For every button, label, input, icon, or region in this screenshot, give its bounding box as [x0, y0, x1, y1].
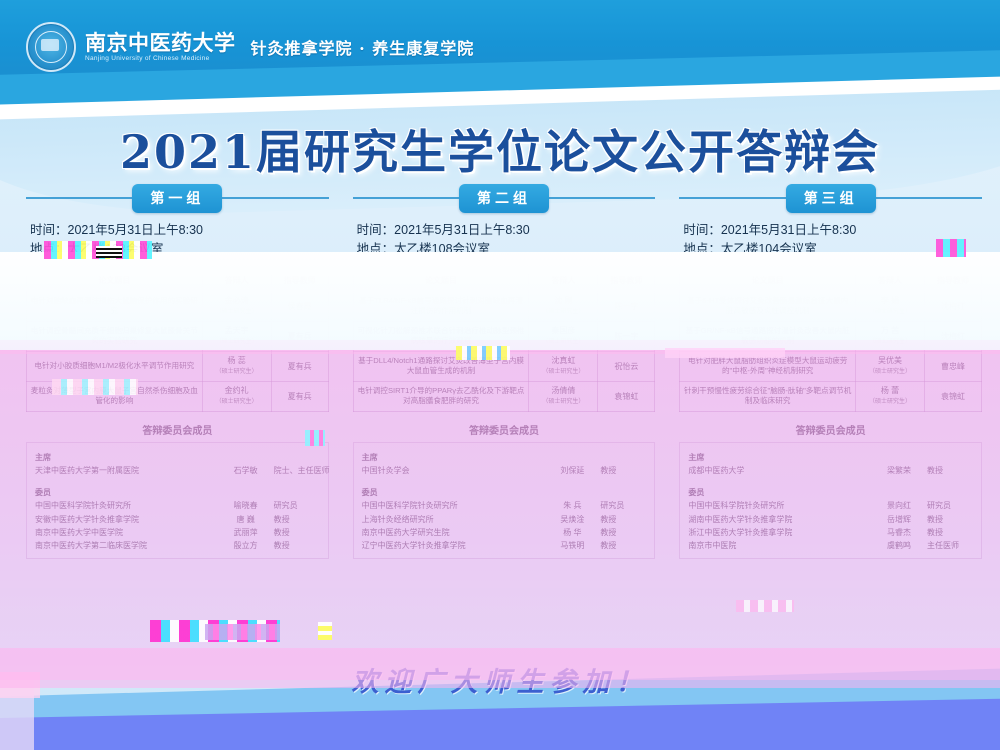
member-name: 喻晓春	[218, 499, 274, 512]
divider-right	[222, 197, 328, 199]
cell-student: 杨 蕾（硕士研究生）	[856, 381, 925, 411]
member-rank: 教授	[600, 513, 646, 526]
cell-advisor: 夏有兵	[271, 351, 328, 381]
glitch-artifact	[205, 624, 280, 640]
brand-logo-bar: 南京中医药大学 Nanjing University of Chinese Me…	[26, 22, 474, 72]
member-rank: 教授	[927, 513, 973, 526]
member-rank: 研究员	[600, 499, 646, 512]
committee-box: 主席 成都中医药大学 梁繁荣 教授 委员 中国中医科学院针灸研究所 景向红 研究…	[679, 442, 982, 559]
university-name-cn: 南京中医药大学	[85, 32, 236, 53]
group-header-3: 第三组	[679, 185, 982, 211]
member-rank: 教授	[600, 526, 646, 539]
member-name: 吴焕淦	[544, 513, 600, 526]
member-rank: 教授	[927, 526, 973, 539]
committee-row: 中国中医科学院针灸研究所 朱 兵 研究员	[362, 499, 647, 512]
committee-row: 安徽中医药大学针灸推拿学院 唐 巍 教授	[35, 513, 320, 526]
divider-right	[876, 197, 982, 199]
chair-label: 主席	[688, 451, 973, 464]
member-name: 马铁明	[544, 539, 600, 552]
member-org: 中国针灸学会	[362, 464, 545, 477]
divider-right	[549, 197, 655, 199]
university-name: 南京中医药大学 Nanjing University of Chinese Me…	[85, 32, 236, 63]
member-org: 辽宁中医药大学针灸推拿学院	[362, 539, 545, 552]
cell-student: 汤倩倩（硕士研究生）	[529, 381, 598, 411]
committee-title: 答辩委员会成员	[679, 418, 982, 442]
member-org: 南京中医药大学中医学院	[35, 526, 218, 539]
glitch-artifact	[52, 379, 138, 395]
poster-canvas: 南京中医药大学 Nanjing University of Chinese Me…	[0, 0, 1000, 750]
table-row: 电针调控SIRT1介导的PPARγ去乙酰化及下游靶点对高脂膳食肥胖的研究 汤倩倩…	[353, 381, 655, 411]
member-name: 唐 巍	[218, 513, 274, 526]
member-org: 中国中医科学院针灸研究所	[362, 499, 545, 512]
group-badge-2: 第二组	[459, 184, 549, 213]
member-org: 浙江中医药大学针灸推拿学院	[688, 526, 871, 539]
cell-title: 电针调控SIRT1介导的PPARγ去乙酰化及下游靶点对高脂膳食肥胖的研究	[353, 381, 529, 411]
committee-row: 南京市中医院 虞鹤鸣 主任医师	[688, 539, 973, 552]
member-rank: 主任医师	[927, 539, 973, 552]
glitch-artifact	[456, 346, 510, 360]
committee-row: 成都中医药大学 梁繁荣 教授	[688, 464, 973, 477]
committee-2: 答辩委员会成员 主席 中国针灸学会 刘保延 教授 委员 中国中医科学院针灸研究所…	[353, 418, 656, 559]
group-time-1: 时间：2021年5月31日上午8:30	[30, 221, 329, 240]
committee-box: 主席 中国针灸学会 刘保延 教授 委员 中国中医科学院针灸研究所 朱 兵 研究员	[353, 442, 656, 559]
committee-row: 浙江中医药大学针灸推拿学院 马睿杰 教授	[688, 526, 973, 539]
member-rank: 教授	[274, 526, 320, 539]
group-header-1: 第一组	[26, 185, 329, 211]
cell-title: 电针对小胶质细胞M1/M2极化水平调节作用研究	[27, 351, 203, 381]
member-name: 景向红	[871, 499, 927, 512]
university-name-en: Nanjing University of Chinese Medicine	[85, 56, 236, 63]
committee-row: 湖南中医药大学针灸推拿学院 岳增辉 教授	[688, 513, 973, 526]
committee-row: 天津中医药大学第一附属医院 石学敏 院士、主任医师	[35, 464, 320, 477]
committee-row: 上海针灸经络研究所 吴焕淦 教授	[362, 513, 647, 526]
member-name: 岳增辉	[871, 513, 927, 526]
render-overlay-pink-bottom	[0, 648, 1000, 688]
divider-left	[26, 197, 132, 199]
member-rank: 教授	[274, 513, 320, 526]
committee-row: 中国针灸学会 刘保延 教授	[362, 464, 647, 477]
committee-row: 南京中医药大学中医学院 武丽萍 教授	[35, 526, 320, 539]
group-time-3: 时间：2021年5月31日上午8:30	[683, 221, 982, 240]
committee-row: 辽宁中医药大学针灸推拿学院 马铁明 教授	[362, 539, 647, 552]
cell-student: 杨 蕊（硕士研究生）	[202, 351, 271, 381]
group-badge-1: 第一组	[132, 184, 222, 213]
cell-advisor: 夏有兵	[271, 381, 328, 411]
member-org: 中国中医科学院针灸研究所	[688, 499, 871, 512]
members-label: 委员	[35, 486, 320, 499]
member-rank: 研究员	[274, 499, 320, 512]
member-rank: 教授	[600, 464, 646, 477]
group-time-2: 时间：2021年5月31日上午8:30	[357, 221, 656, 240]
member-name: 殷立方	[218, 539, 274, 552]
member-name: 朱 兵	[544, 499, 600, 512]
university-crest-icon	[26, 22, 76, 72]
member-name: 武丽萍	[218, 526, 274, 539]
member-rank: 教授	[274, 539, 320, 552]
member-rank: 院士、主任医师	[274, 464, 320, 477]
cell-advisor: 祝怡云	[598, 351, 655, 381]
committee-1: 答辩委员会成员 主席 天津中医药大学第一附属医院 石学敏 院士、主任医师 委员 …	[26, 418, 329, 559]
committee-title: 答辩委员会成员	[353, 418, 656, 442]
cell-student: 沈真虹（硕士研究生）	[529, 351, 598, 381]
member-org: 上海针灸经络研究所	[362, 513, 545, 526]
member-rank: 教授	[927, 464, 973, 477]
chair-label: 主席	[35, 451, 320, 464]
glitch-artifact	[305, 430, 325, 446]
committee-box: 主席 天津中医药大学第一附属医院 石学敏 院士、主任医师 委员 中国中医科学院针…	[26, 442, 329, 559]
group-header-2: 第二组	[353, 185, 656, 211]
divider-left	[679, 197, 785, 199]
table-row: 电针对小胶质细胞M1/M2极化水平调节作用研究 杨 蕊（硕士研究生） 夏有兵	[27, 351, 329, 381]
cell-title: 针刺干预慢性疲劳综合征"脑肠-肽轴"多靶点调节机制及临床研究	[680, 381, 856, 411]
group-badge-3: 第三组	[786, 184, 876, 213]
committee-row: 中国中医科学院针灸研究所 景向红 研究员	[688, 499, 973, 512]
member-org: 成都中医药大学	[688, 464, 871, 477]
chair-label: 主席	[362, 451, 647, 464]
member-name: 马睿杰	[871, 526, 927, 539]
member-org: 南京市中医院	[688, 539, 871, 552]
cell-student: 吴优美（硕士研究生）	[856, 351, 925, 381]
glitch-artifact	[318, 622, 332, 640]
member-name: 刘保延	[544, 464, 600, 477]
committee-row: 南京中医药大学第二临床医学院 殷立方 教授	[35, 539, 320, 552]
college-name: 针灸推拿学院 · 养生康复学院	[251, 35, 475, 59]
page-title: 2021届研究生学位论文公开答辩会	[0, 116, 1000, 182]
member-name: 虞鹤鸣	[871, 539, 927, 552]
glitch-artifact	[936, 239, 966, 257]
member-org: 南京中医药大学第二临床医学院	[35, 539, 218, 552]
member-org: 湖南中医药大学针灸推拿学院	[688, 513, 871, 526]
cell-advisor: 曹忠峰	[925, 351, 982, 381]
member-org: 中国中医科学院针灸研究所	[35, 499, 218, 512]
committee-title: 答辩委员会成员	[26, 418, 329, 442]
cell-advisor: 袁锦虹	[598, 381, 655, 411]
table-row: 针刺干预慢性疲劳综合征"脑肠-肽轴"多靶点调节机制及临床研究 杨 蕾（硕士研究生…	[680, 381, 982, 411]
members-label: 委员	[688, 486, 973, 499]
committee-row: 中国中医科学院针灸研究所 喻晓春 研究员	[35, 499, 320, 512]
glitch-artifact	[736, 600, 794, 612]
member-name: 石学敏	[218, 464, 274, 477]
divider-left	[353, 197, 459, 199]
render-overlay-faint	[0, 252, 1000, 350]
member-org: 天津中医药大学第一附属医院	[35, 464, 218, 477]
committee-row: 南京中医药大学研究生院 杨 华 教授	[362, 526, 647, 539]
member-rank: 研究员	[927, 499, 973, 512]
cell-student: 金约礼（硕士研究生）	[202, 381, 271, 411]
member-name: 梁繁荣	[871, 464, 927, 477]
committee-3: 答辩委员会成员 主席 成都中医药大学 梁繁荣 教授 委员 中国中医科学院针灸研究…	[679, 418, 982, 559]
member-org: 安徽中医药大学针灸推拿学院	[35, 513, 218, 526]
glitch-artifact	[96, 246, 122, 258]
member-rank: 教授	[600, 539, 646, 552]
member-name: 杨 华	[544, 526, 600, 539]
cell-advisor: 袁锦虹	[925, 381, 982, 411]
members-label: 委员	[362, 486, 647, 499]
member-org: 南京中医药大学研究生院	[362, 526, 545, 539]
glitch-artifact	[665, 348, 785, 358]
